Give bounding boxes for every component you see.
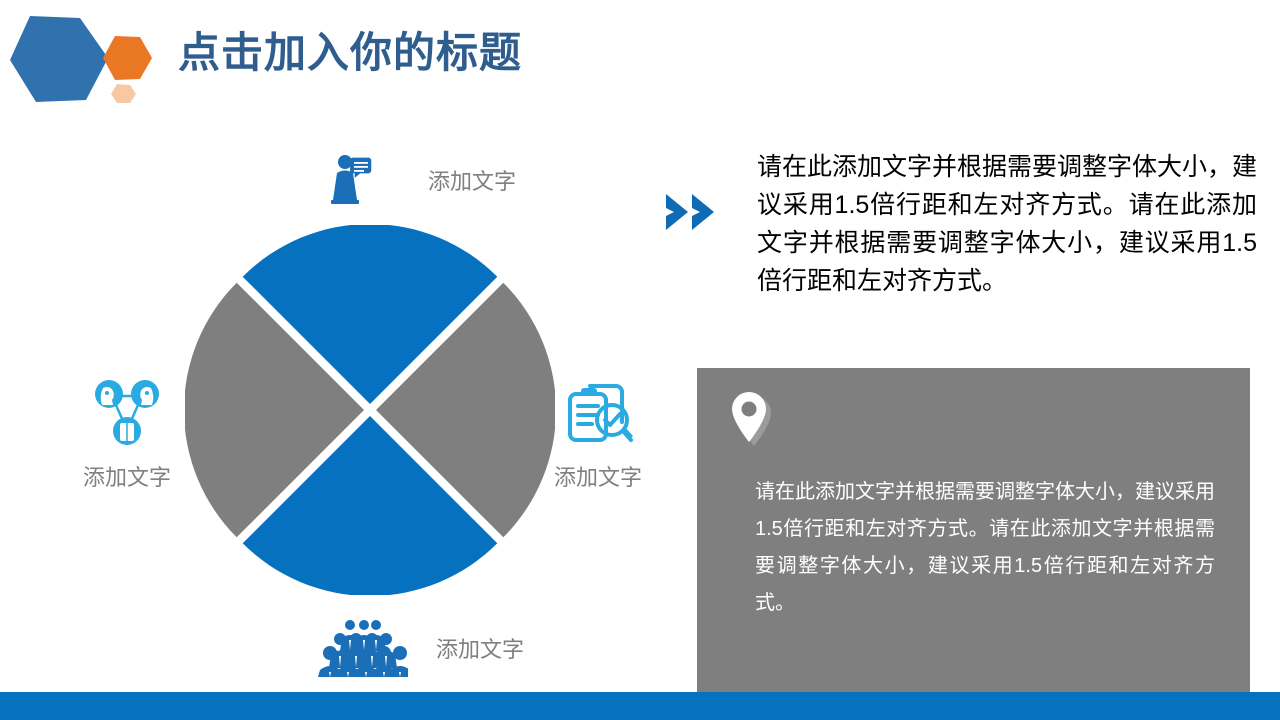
spoke-bottom[interactable]: 添加文字 <box>318 618 568 678</box>
four-quadrant-wheel <box>185 225 555 595</box>
spoke-right[interactable]: 添加文字 <box>528 378 668 492</box>
spoke-left-label: 添加文字 <box>83 460 171 492</box>
spoke-top-label: 添加文字 <box>428 164 516 196</box>
hexagon-logo <box>8 8 158 108</box>
page-title: 点击加入你的标题 <box>178 32 522 74</box>
info-panel: 请在此添加文字并根据需要调整字体大小，建议采用1.5倍行距和左对齐方式。请在此添… <box>697 368 1250 692</box>
spoke-top[interactable]: 添加文字 <box>330 152 560 208</box>
spoke-bottom-label: 添加文字 <box>436 632 524 664</box>
network-people-icon <box>90 378 164 452</box>
document-search-check-icon <box>560 378 636 452</box>
spoke-right-label: 添加文字 <box>554 460 642 492</box>
info-panel-text: 请在此添加文字并根据需要调整字体大小，建议采用1.5倍行距和左对齐方式。请在此添… <box>755 474 1215 622</box>
map-pin-icon <box>729 390 775 446</box>
footer-bar <box>0 692 1280 720</box>
presenter-speech-icon <box>330 154 376 206</box>
spoke-left[interactable]: 添加文字 <box>62 378 192 492</box>
hexagon-large <box>10 16 108 102</box>
crowd-people-icon <box>318 619 408 677</box>
hexagon-small <box>111 84 136 103</box>
double-chevron-right-icon <box>664 190 722 234</box>
hexagon-medium <box>103 36 152 80</box>
intro-paragraph: 请在此添加文字并根据需要调整字体大小，建议采用1.5倍行距和左对齐方式。请在此添… <box>757 148 1257 300</box>
